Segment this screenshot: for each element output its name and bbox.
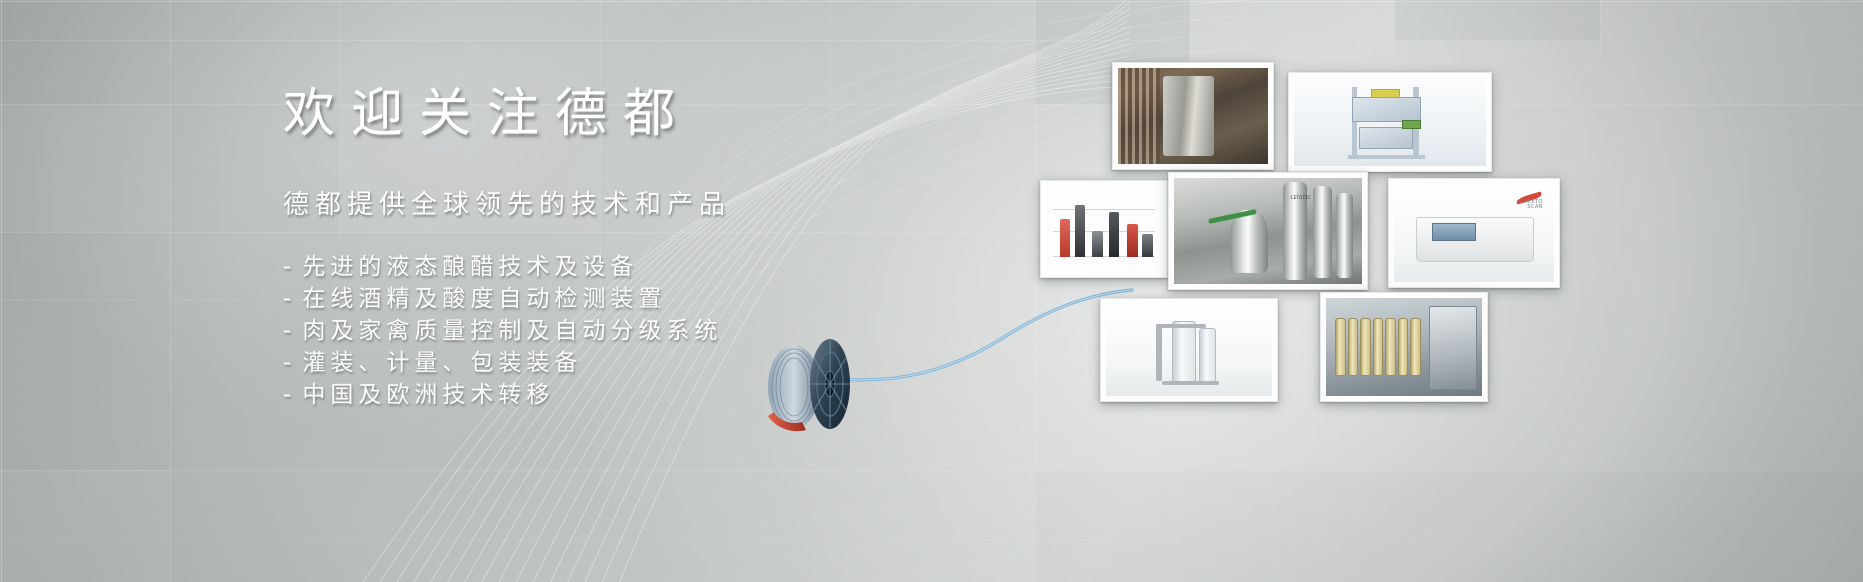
photo-image [1294, 78, 1486, 166]
photo-image [1118, 68, 1268, 164]
photo-image: ACETO SCAN [1394, 184, 1554, 282]
gallery-photo-analysis-chart-sheet[interactable] [1040, 180, 1168, 278]
product-image-gallery: CETOTEC ACETO SCAN [0, 0, 1863, 582]
gallery-photo-fermentation-tank-hall[interactable]: CETOTEC [1168, 172, 1368, 290]
gallery-photo-aceto-scan-instrument[interactable]: ACETO SCAN [1388, 178, 1560, 288]
gallery-photo-filtration-skid[interactable] [1100, 298, 1278, 402]
photo-image [1106, 304, 1272, 396]
photo-image [1326, 298, 1482, 396]
photo-image [1046, 186, 1162, 272]
gallery-photo-meat-chiller-room[interactable] [1112, 62, 1274, 170]
gallery-photo-cad-machine-render[interactable] [1288, 72, 1492, 172]
photo-image: CETOTEC [1174, 178, 1362, 284]
gallery-photo-membrane-filtration-rack[interactable] [1320, 292, 1488, 402]
instrument-brand-label: ACETO SCAN [1524, 200, 1543, 212]
welcome-banner: 欢迎关注德都 德都提供全球领先的技术和产品 -先进的液态酿醋技术及设备 -在线酒… [0, 0, 1863, 582]
